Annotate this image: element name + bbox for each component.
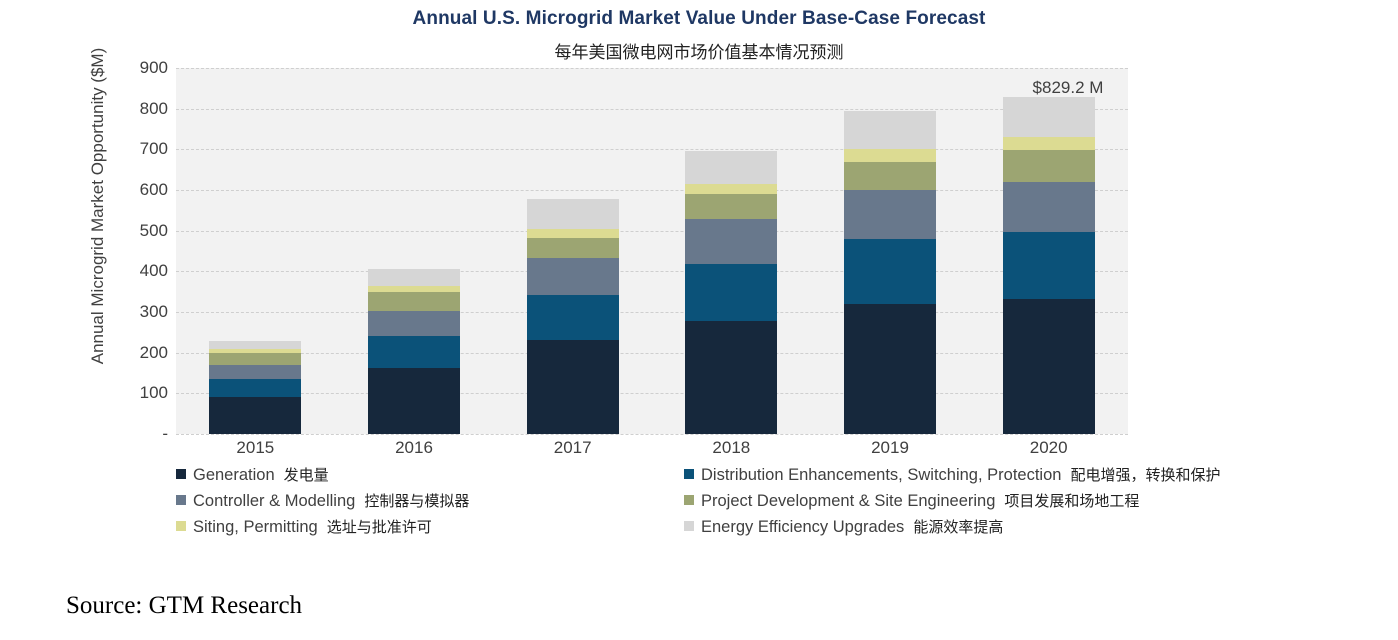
gridline bbox=[176, 271, 1128, 272]
legend-label-zh: 配电增强，转换和保护 bbox=[1070, 466, 1220, 484]
bar-segment[interactable] bbox=[844, 111, 936, 149]
y-axis-tick: - bbox=[110, 424, 168, 444]
bar-segment[interactable] bbox=[685, 219, 777, 264]
bar-segment[interactable] bbox=[209, 397, 301, 434]
bar-segment[interactable] bbox=[527, 340, 619, 434]
x-axis-tick: 2020 bbox=[979, 438, 1119, 458]
source-note: Source: GTM Research bbox=[66, 592, 302, 620]
gridline bbox=[176, 434, 1128, 435]
bar-segment[interactable] bbox=[844, 162, 936, 190]
bar-segment[interactable] bbox=[209, 353, 301, 365]
y-axis-title: Annual Microgrid Market Opportunity ($M) bbox=[88, 16, 108, 396]
bar-group[interactable] bbox=[368, 68, 460, 434]
bar-segment[interactable] bbox=[209, 341, 301, 348]
bar-group[interactable] bbox=[209, 68, 301, 434]
legend-item[interactable]: Generation发电量 bbox=[176, 462, 676, 488]
bar-segment[interactable] bbox=[527, 229, 619, 237]
gridline bbox=[176, 353, 1128, 354]
x-axis-tick-labels: 201520162017201820192020 bbox=[176, 438, 1128, 464]
legend-item[interactable]: Project Development & Site Engineering项目… bbox=[684, 488, 1384, 514]
gridline bbox=[176, 68, 1128, 69]
bar-segment[interactable] bbox=[527, 295, 619, 341]
plot-area bbox=[176, 68, 1128, 434]
bar-group[interactable] bbox=[844, 68, 936, 434]
bar-segment[interactable] bbox=[209, 365, 301, 379]
gridline bbox=[176, 190, 1128, 191]
bar-segment[interactable] bbox=[685, 264, 777, 322]
bar-segment[interactable] bbox=[844, 190, 936, 239]
bar-segment[interactable] bbox=[209, 349, 301, 353]
legend-item[interactable]: Distribution Enhancements, Switching, Pr… bbox=[684, 462, 1384, 488]
x-axis-tick: 2017 bbox=[503, 438, 643, 458]
bar-segment[interactable] bbox=[1003, 232, 1095, 299]
x-axis-tick: 2019 bbox=[820, 438, 960, 458]
x-axis-tick: 2016 bbox=[344, 438, 484, 458]
bar-group[interactable] bbox=[1003, 68, 1095, 434]
y-axis-tick: 400 bbox=[110, 261, 168, 281]
x-axis-tick: 2015 bbox=[185, 438, 325, 458]
bar-segment[interactable] bbox=[209, 379, 301, 397]
bar-segment[interactable] bbox=[844, 304, 936, 434]
data-label-2020: $829.2 M bbox=[1008, 78, 1128, 98]
y-axis-tick: 100 bbox=[110, 383, 168, 403]
y-axis-tick: 900 bbox=[110, 58, 168, 78]
legend-swatch-siting bbox=[176, 521, 186, 531]
gridline bbox=[176, 393, 1128, 394]
legend-label-en: Distribution Enhancements, Switching, Pr… bbox=[701, 466, 1061, 484]
bar-segment[interactable] bbox=[685, 151, 777, 184]
y-axis-tick: 300 bbox=[110, 302, 168, 322]
gridline bbox=[176, 109, 1128, 110]
legend-label-en: Controller & Modelling bbox=[193, 492, 355, 510]
y-axis-tick: 500 bbox=[110, 221, 168, 241]
bar-segment[interactable] bbox=[685, 184, 777, 195]
legend-item[interactable]: Controller & Modelling控制器与模拟器 bbox=[176, 488, 676, 514]
legend-label-zh: 能源效率提高 bbox=[913, 518, 1003, 536]
bar-segment[interactable] bbox=[1003, 150, 1095, 183]
legend-label-zh: 项目发展和场地工程 bbox=[1004, 492, 1139, 510]
bar-segment[interactable] bbox=[1003, 137, 1095, 150]
y-axis-tick: 600 bbox=[110, 180, 168, 200]
bar-segment[interactable] bbox=[844, 149, 936, 161]
bar-segment[interactable] bbox=[527, 258, 619, 295]
bar-group[interactable] bbox=[685, 68, 777, 434]
gridline bbox=[176, 312, 1128, 313]
bar-segment[interactable] bbox=[368, 269, 460, 286]
legend-label-en: Project Development & Site Engineering bbox=[701, 492, 995, 510]
bar-segment[interactable] bbox=[368, 292, 460, 310]
legend-label-en: Generation bbox=[193, 466, 275, 484]
chart-legend: Generation发电量Controller & Modelling控制器与模… bbox=[176, 462, 1386, 540]
bar-group[interactable] bbox=[527, 68, 619, 434]
bar-segment[interactable] bbox=[685, 321, 777, 434]
chart-title: Annual U.S. Microgrid Market Value Under… bbox=[0, 8, 1398, 30]
legend-column-left: Generation发电量Controller & Modelling控制器与模… bbox=[176, 462, 676, 540]
bar-segment[interactable] bbox=[844, 239, 936, 304]
bar-segment[interactable] bbox=[685, 194, 777, 218]
bar-segment[interactable] bbox=[527, 238, 619, 258]
bar-segment[interactable] bbox=[368, 311, 460, 337]
legend-label-zh: 发电量 bbox=[284, 466, 329, 484]
legend-label-en: Siting, Permitting bbox=[193, 518, 318, 536]
bar-segment[interactable] bbox=[1003, 299, 1095, 434]
legend-column-right: Distribution Enhancements, Switching, Pr… bbox=[684, 462, 1384, 540]
bar-segment[interactable] bbox=[1003, 182, 1095, 232]
bar-segment[interactable] bbox=[368, 286, 460, 292]
x-axis-tick: 2018 bbox=[661, 438, 801, 458]
gridline bbox=[176, 231, 1128, 232]
y-axis-tick: 200 bbox=[110, 343, 168, 363]
y-axis-tick-labels: 900800700600500400300200100- bbox=[110, 58, 168, 448]
legend-swatch-distribution bbox=[684, 469, 694, 479]
legend-label-zh: 控制器与模拟器 bbox=[364, 492, 469, 510]
legend-swatch-energy-efficiency bbox=[684, 521, 694, 531]
bar-segment[interactable] bbox=[368, 368, 460, 434]
y-axis-tick: 800 bbox=[110, 99, 168, 119]
legend-label-zh: 选址与批准许可 bbox=[327, 518, 432, 536]
legend-swatch-generation bbox=[176, 469, 186, 479]
bar-segment[interactable] bbox=[368, 336, 460, 368]
chart-subtitle: 每年美国微电网市场价值基本情况预测 bbox=[0, 38, 1398, 63]
legend-swatch-controller bbox=[176, 495, 186, 505]
gridline bbox=[176, 149, 1128, 150]
bar-segment[interactable] bbox=[527, 199, 619, 229]
bar-segment[interactable] bbox=[1003, 97, 1095, 137]
legend-item[interactable]: Siting, Permitting选址与批准许可 bbox=[176, 514, 676, 540]
y-axis-tick: 700 bbox=[110, 139, 168, 159]
legend-label-en: Energy Efficiency Upgrades bbox=[701, 518, 904, 536]
legend-swatch-project-development bbox=[684, 495, 694, 505]
legend-item[interactable]: Energy Efficiency Upgrades能源效率提高 bbox=[684, 514, 1384, 540]
